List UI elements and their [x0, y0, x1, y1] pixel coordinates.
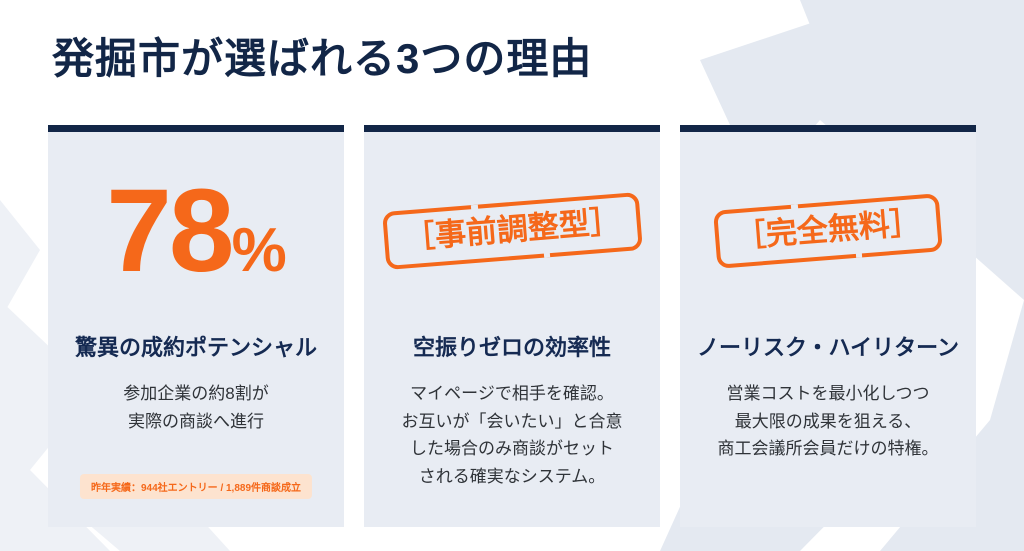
reason-card-2: ［事前調整型］ 空振りゼロの効率性 マイページで相手を確認。 お互いが「会いたい…	[364, 125, 660, 527]
card-1-results-badge: 昨年実績：944社エントリー / 1,889件商談成立	[80, 474, 312, 499]
card-1-body-line: 実際の商談へ進行	[123, 408, 268, 436]
card-1-body: 参加企業の約8割が 実際の商談へ進行	[123, 380, 268, 435]
card-2-body: マイページで相手を確認。 お互いが「会いたい」と合意 した場合のみ商談がセット …	[402, 380, 623, 490]
card-1-heading: 驚異の成約ポテンシャル	[75, 330, 317, 362]
card-3-body: 営業コストを最小化しつつ 最大限の成果を狙える、 商工会議所会員だけの特権。	[718, 380, 939, 463]
card-1-visual: 78 %	[62, 132, 330, 330]
card-3-body-line: 最大限の成果を狙える、	[718, 408, 939, 436]
card-1-body-line: 参加企業の約8割が	[123, 380, 268, 408]
statistic-number: 78	[106, 172, 231, 290]
stamp-badge-icon: ［完全無料］	[713, 193, 943, 269]
reasons-card-row: 78 % 驚異の成約ポテンシャル 参加企業の約8割が 実際の商談へ進行 昨年実績…	[48, 125, 976, 527]
card-3-heading: ノーリスク・ハイリターン	[697, 330, 959, 362]
card-2-body-line: お互いが「会いたい」と合意	[402, 408, 623, 436]
card-2-heading: 空振りゼロの効率性	[413, 330, 611, 362]
card-3-body-line: 商工会議所会員だけの特権。	[718, 435, 939, 463]
statistic-unit: %	[232, 220, 286, 282]
card-3-body-line: 営業コストを最小化しつつ	[718, 380, 939, 408]
card-3-visual: ［完全無料］	[694, 132, 962, 330]
page-title: 発掘市が選ばれる3つの理由	[52, 36, 592, 82]
card-2-body-line: される確実なシステム。	[402, 463, 623, 491]
reason-card-1: 78 % 驚異の成約ポテンシャル 参加企業の約8割が 実際の商談へ進行 昨年実績…	[48, 125, 344, 527]
card-2-body-line: した場合のみ商談がセット	[402, 435, 623, 463]
card-2-visual: ［事前調整型］	[378, 132, 646, 330]
card-2-body-line: マイページで相手を確認。	[402, 380, 623, 408]
statistic-value-group: 78 %	[106, 172, 285, 290]
stamp-badge-icon: ［事前調整型］	[382, 192, 643, 270]
reason-card-3: ［完全無料］ ノーリスク・ハイリターン 営業コストを最小化しつつ 最大限の成果を…	[680, 125, 976, 527]
